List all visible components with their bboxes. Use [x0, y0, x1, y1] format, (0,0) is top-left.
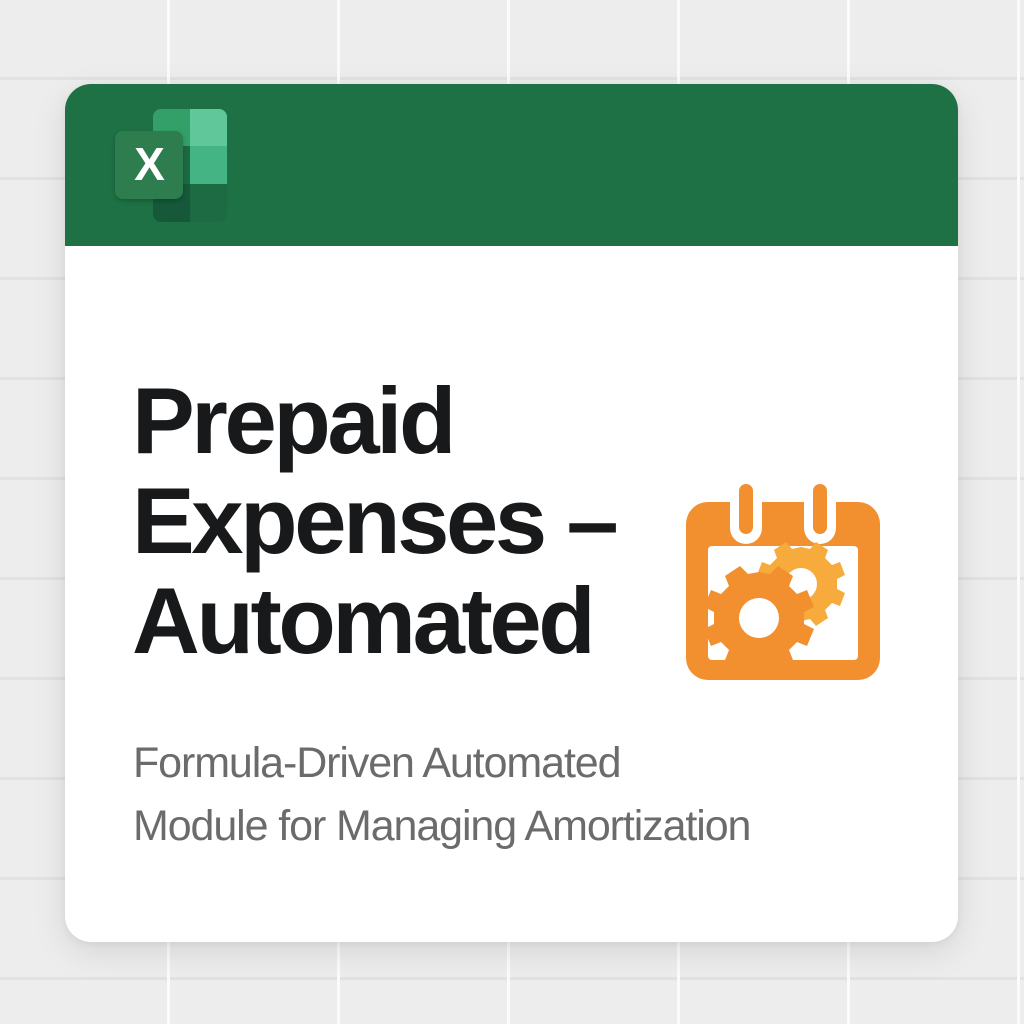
card-body: Prepaid Expenses – Automated: [65, 246, 958, 942]
poster-canvas: X Prepaid Expenses – Automated: [0, 0, 1024, 1024]
excel-grid-cell: [190, 146, 227, 184]
subtitle-line-1: Formula-Driven Automated: [133, 732, 923, 795]
title-line-2: Expenses –: [132, 471, 692, 571]
excel-logo-icon: X: [105, 109, 229, 224]
title-line-1: Prepaid: [132, 371, 692, 471]
calendar-ring-post-left: [739, 484, 753, 534]
excel-x-tile: X: [115, 131, 183, 199]
page-title: Prepaid Expenses – Automated: [132, 371, 692, 671]
page-subtitle: Formula-Driven Automated Module for Mana…: [133, 732, 923, 858]
content-card: X Prepaid Expenses – Automated: [65, 84, 958, 942]
card-header-bar: X: [65, 84, 958, 246]
calendar-ring-post-right: [813, 484, 827, 534]
calendar-gears-icon: [685, 478, 881, 690]
excel-x-letter: X: [134, 141, 164, 187]
subtitle-line-2: Module for Managing Amortization: [133, 795, 923, 858]
excel-grid-cell: [190, 109, 227, 146]
title-line-3: Automated: [132, 571, 692, 671]
excel-grid-cell: [190, 184, 227, 222]
